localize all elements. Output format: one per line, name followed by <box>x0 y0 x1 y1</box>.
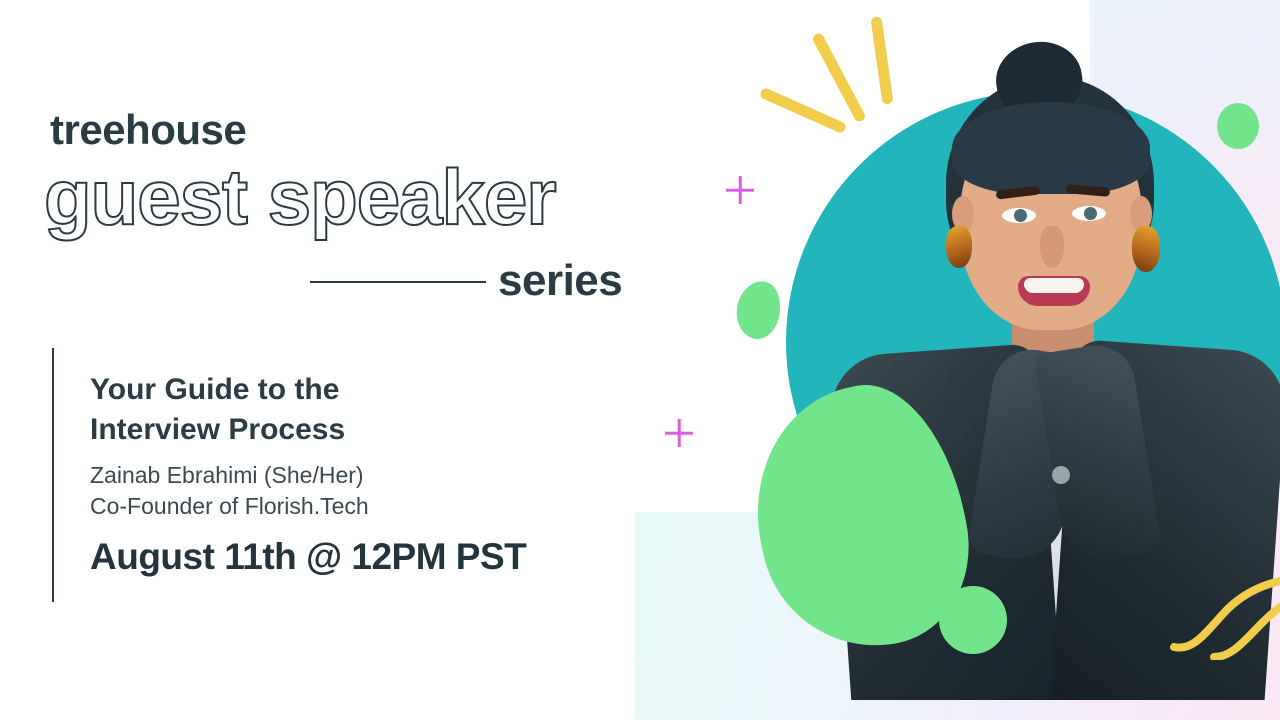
photo-earring-left <box>946 226 972 268</box>
series-divider-rule <box>310 281 486 283</box>
plus-mark-icon <box>665 419 693 447</box>
talk-title-line-1: Your Guide to the <box>90 370 510 410</box>
plus-mark-icon <box>726 176 754 204</box>
photo-jacket-snap <box>1052 466 1070 484</box>
talk-title: Your Guide to the Interview Process <box>90 370 510 449</box>
photo-teeth <box>1024 278 1084 293</box>
photo-hair-front <box>952 102 1150 194</box>
speaker-role: Co-Founder of Florish.Tech <box>90 491 369 522</box>
headline-guest-speaker: guest speaker <box>44 158 556 236</box>
treehouse-wordmark: treehouse <box>50 106 246 154</box>
speaker-name: Zainab Ebrahimi (She/Her) <box>90 460 369 491</box>
green-circle-bottom <box>939 586 1007 654</box>
photo-pupil-right <box>1084 207 1097 220</box>
photo-nose <box>1040 226 1064 268</box>
event-datetime: August 11th @ 12PM PST <box>90 536 526 578</box>
vertical-accent-rule <box>52 348 54 602</box>
speaker-info: Zainab Ebrahimi (She/Her) Co-Founder of … <box>90 460 369 523</box>
photo-earring-right <box>1132 226 1160 272</box>
green-blob-small <box>731 277 787 344</box>
talk-title-line-2: Interview Process <box>90 410 510 450</box>
photo-pupil-left <box>1014 209 1027 222</box>
yellow-squiggle-icon <box>1170 575 1280 660</box>
promo-slide: treehouse guest speaker series Your Guid… <box>0 0 1280 720</box>
series-label: series <box>498 256 622 306</box>
